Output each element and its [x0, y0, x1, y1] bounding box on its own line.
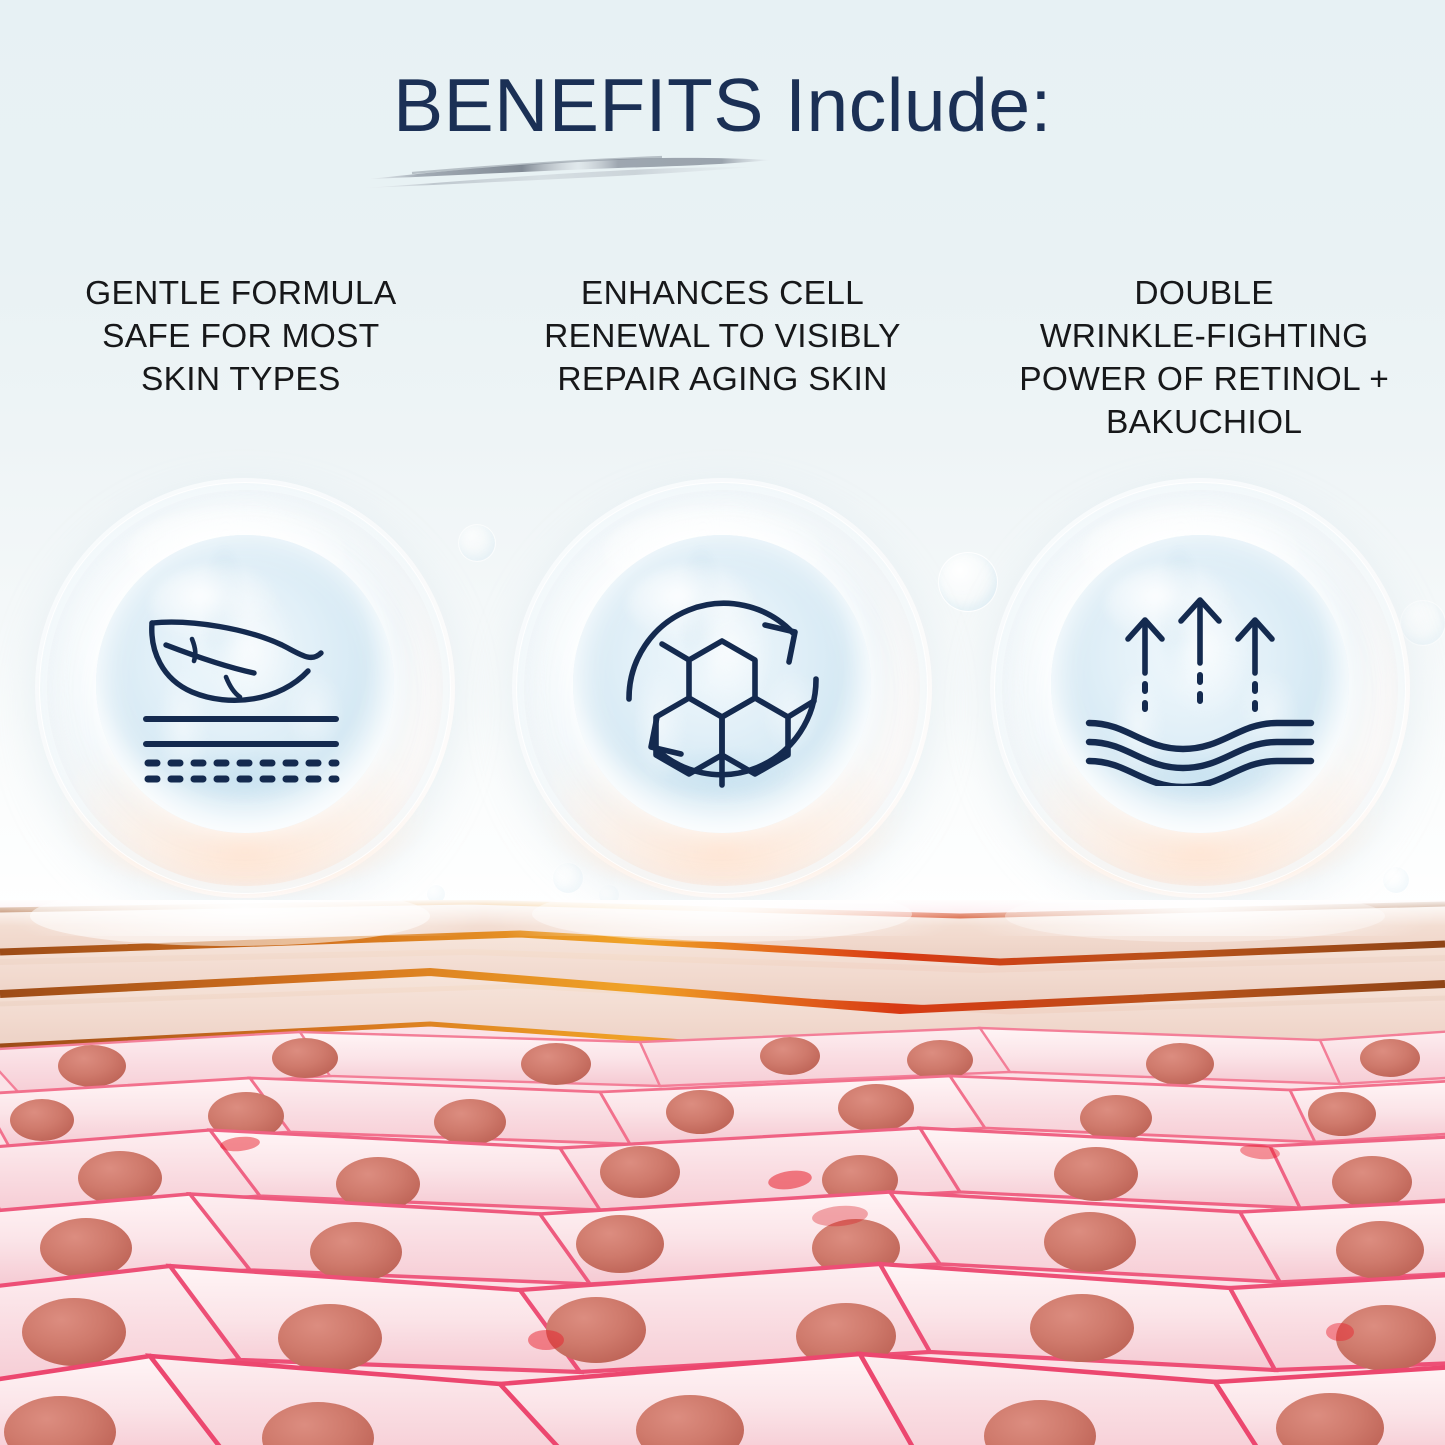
skin-cross-section-illustration [0, 900, 1445, 1445]
skin-layers-graphic [0, 900, 1445, 1445]
mini-bubble-icon [458, 524, 496, 562]
arrows-lifting-wavy-lines-icon [990, 478, 1410, 898]
mini-bubble-icon [938, 552, 998, 612]
benefit-bubble-wrinkle-fighting [990, 478, 1410, 898]
benefit-bubble-cell-renewal [512, 478, 932, 898]
benefit-bubble-gentle-formula [35, 478, 455, 898]
stratum-corneum-layer [0, 900, 1445, 1058]
benefits-infographic: BENEFITS Include: [0, 0, 1445, 1445]
molecule-renewal-cycle-icon [512, 478, 932, 898]
feather-over-skin-layers-icon [35, 478, 455, 898]
